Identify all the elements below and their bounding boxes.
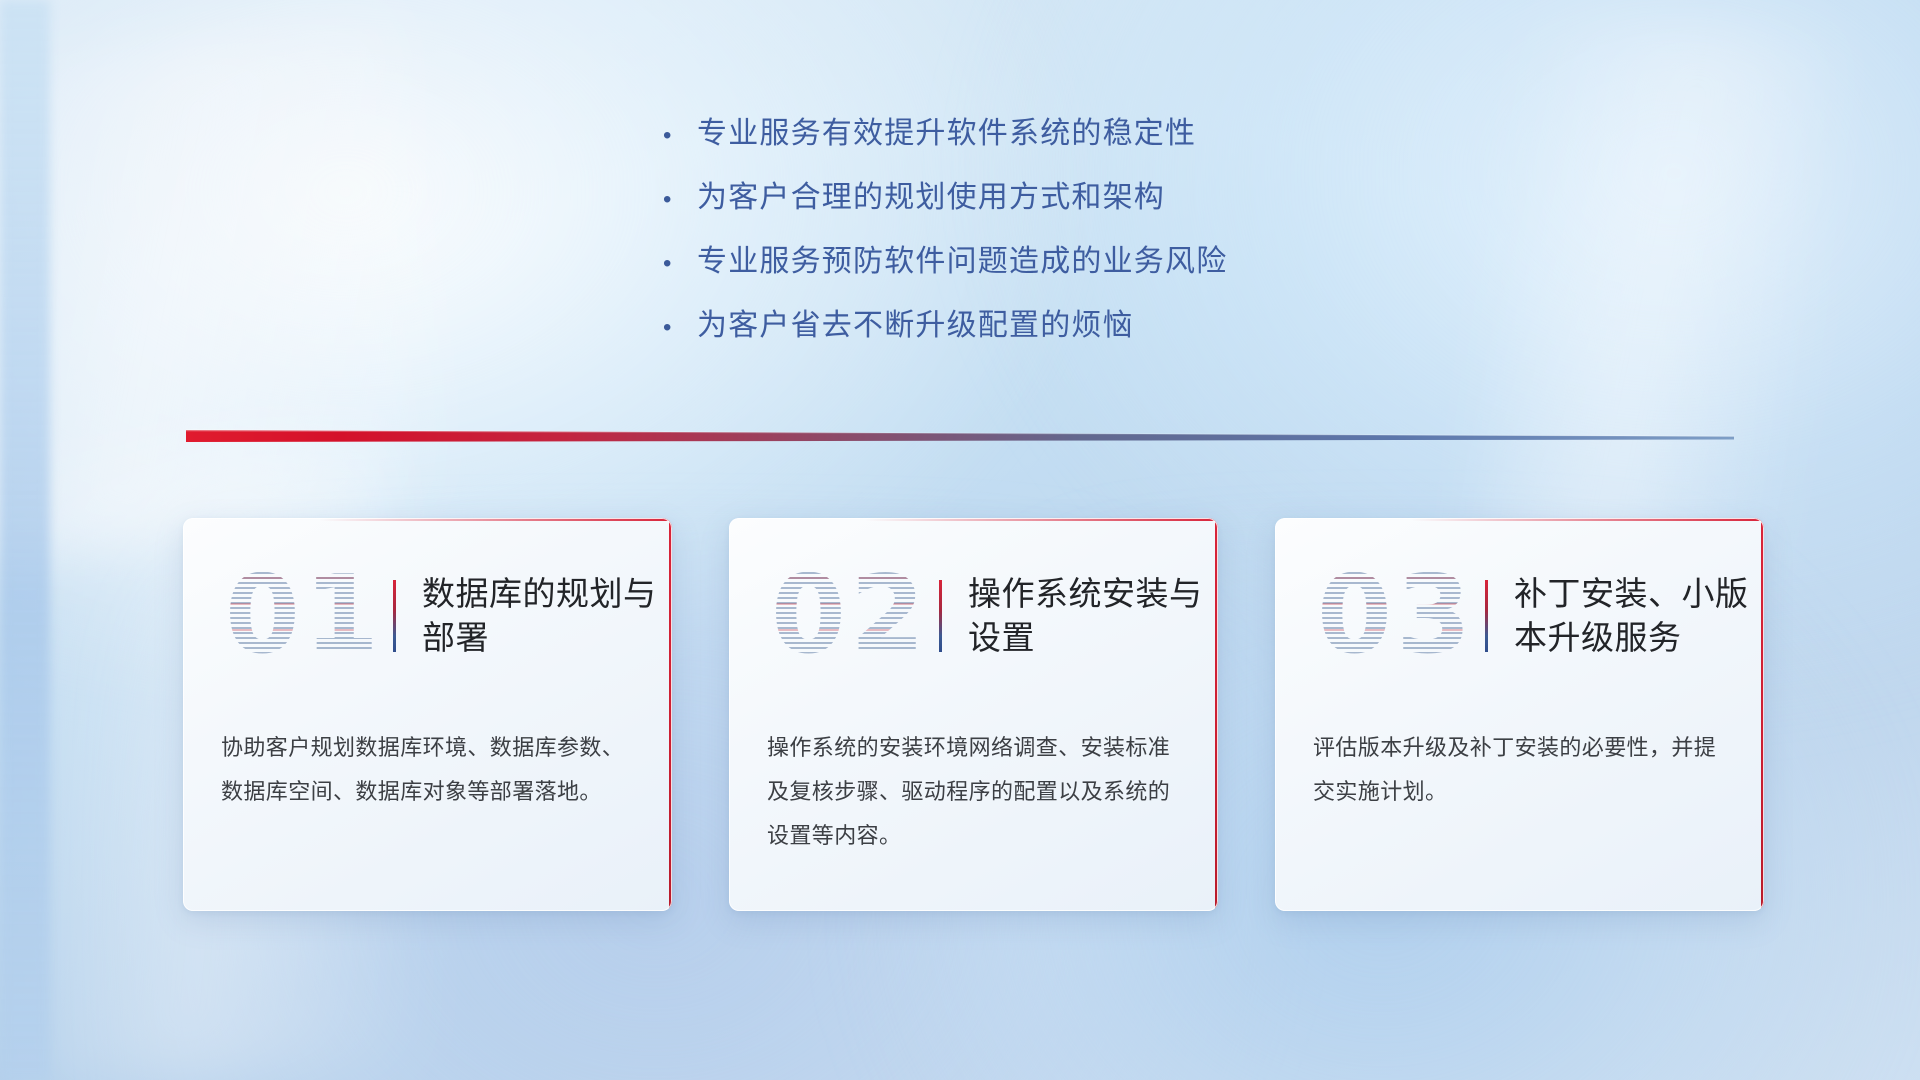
card-title: 操作系统安装与设置	[968, 572, 1208, 659]
card-number-watermark: 01 01	[215, 551, 393, 681]
card-title-divider	[393, 580, 396, 652]
card-number-watermark: 02 02	[761, 551, 939, 681]
bullet-text: 专业服务有效提升软件系统的稳定性	[697, 108, 1196, 152]
service-card-01[interactable]: 01 01 数据库的规划与部署 协助客户规划数据库环境、数据库参数、数据库空间、…	[183, 518, 672, 911]
card-number-glyph: 03	[1317, 562, 1475, 670]
bullet-dot-icon: •	[663, 316, 697, 340]
card-number-glyph: 02	[771, 562, 929, 670]
card-description: 协助客户规划数据库环境、数据库参数、数据库空间、数据库对象等部署落地。	[221, 726, 638, 814]
card-description: 评估版本升级及补丁安装的必要性，并提交实施计划。	[1313, 726, 1730, 814]
card-description: 操作系统的安装环境网络调查、安装标准及复核步骤、驱动程序的配置以及系统的设置等内…	[767, 726, 1184, 858]
card-title: 数据库的规划与部署	[422, 572, 662, 659]
list-item: • 专业服务有效提升软件系统的稳定性	[663, 108, 1483, 172]
service-card-list: 01 01 数据库的规划与部署 协助客户规划数据库环境、数据库参数、数据库空间、…	[183, 518, 1764, 911]
bullet-text: 专业服务预防软件问题造成的业务风险	[697, 236, 1227, 280]
card-header: 01 01 数据库的规划与部署	[183, 518, 672, 714]
bullet-dot-icon: •	[663, 188, 697, 212]
list-item: • 为客户省去不断升级配置的烦恼	[663, 300, 1483, 364]
card-number-glyph: 01	[225, 562, 383, 670]
service-card-03[interactable]: 03 03 补丁安装、小版本升级服务 评估版本升级及补丁安装的必要性，并提交实施…	[1275, 518, 1764, 911]
bullet-text: 为客户合理的规划使用方式和架构	[697, 172, 1165, 216]
bullet-dot-icon: •	[663, 252, 697, 276]
card-title-divider	[939, 580, 942, 652]
list-item: • 专业服务预防软件问题造成的业务风险	[663, 236, 1483, 300]
card-header: 02 02 操作系统安装与设置	[729, 518, 1218, 714]
bullet-dot-icon: •	[663, 124, 697, 148]
list-item: • 为客户合理的规划使用方式和架构	[663, 172, 1483, 236]
card-number-watermark: 03 03	[1307, 551, 1485, 681]
card-title-divider	[1485, 580, 1488, 652]
benefits-bullet-list: • 专业服务有效提升软件系统的稳定性 • 为客户合理的规划使用方式和架构 • 专…	[663, 108, 1483, 364]
card-header: 03 03 补丁安装、小版本升级服务	[1275, 518, 1764, 714]
bullet-text: 为客户省去不断升级配置的烦恼	[697, 300, 1134, 344]
card-title: 补丁安装、小版本升级服务	[1514, 572, 1754, 659]
section-divider	[186, 427, 1734, 451]
divider-shape	[186, 427, 1734, 451]
service-card-02[interactable]: 02 02 操作系统安装与设置 操作系统的安装环境网络调查、安装标准及复核步骤、…	[729, 518, 1218, 911]
